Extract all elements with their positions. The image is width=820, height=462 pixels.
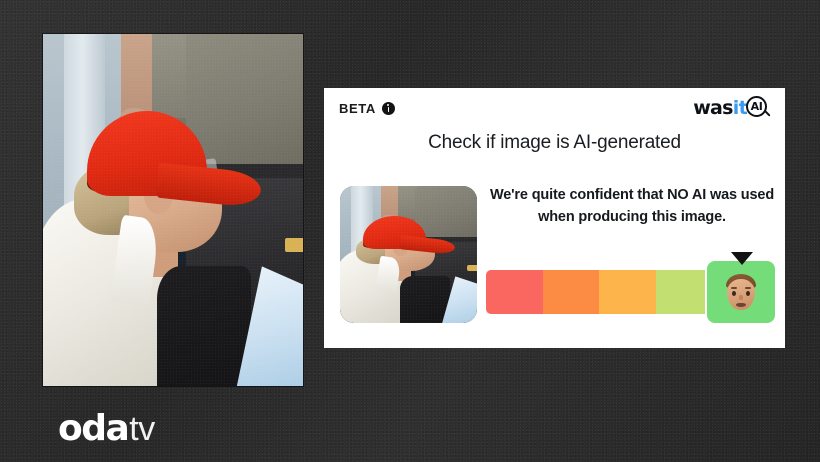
meter-segment-likely-ai <box>543 270 600 314</box>
confidence-meter <box>486 270 769 314</box>
face-emoji-eye-left <box>732 291 736 296</box>
verdict-line-1: We're quite confident that NO AI was use… <box>484 184 780 206</box>
verdict-line-2: when producing this image. <box>484 206 780 228</box>
main-photo <box>43 34 303 386</box>
watermark-light-text: tv <box>129 410 154 449</box>
face-emoji-eye-right <box>746 291 750 296</box>
face-emoji-brow-left <box>731 287 737 289</box>
meter-selected-tile <box>705 259 777 325</box>
magnifier-handle <box>763 109 770 116</box>
watermark-bold-text: oda <box>58 408 128 449</box>
meter-segment-uncertain <box>599 270 656 314</box>
uploaded-image-thumbnail[interactable] <box>340 186 477 323</box>
odatv-watermark: oda tv <box>58 408 155 449</box>
magnifier-icon: AI <box>746 96 771 121</box>
logo-text-ai: AI <box>746 96 767 117</box>
face-emoji-brow-right <box>745 287 751 289</box>
meter-segment-likely-human <box>656 270 713 314</box>
wasitai-logo[interactable]: was it AI <box>693 96 771 121</box>
ai-detector-card: BETA was it AI Check if image is AI-gene… <box>324 88 785 348</box>
screenshot-root: oda tv BETA was it AI Check if image is … <box>0 0 820 462</box>
photo-grain-overlay <box>43 34 303 386</box>
face-emoji-icon <box>726 274 756 310</box>
face-emoji-mouth <box>736 303 746 307</box>
page-title: Check if image is AI-generated <box>324 132 785 154</box>
info-icon[interactable] <box>382 102 395 115</box>
thumb-grain-overlay <box>340 186 477 323</box>
verdict-text: We're quite confident that NO AI was use… <box>484 184 780 228</box>
logo-text-it: it <box>733 97 747 119</box>
card-top-bar: BETA was it AI <box>324 88 785 128</box>
meter-segment-very-likely-ai <box>486 270 543 314</box>
down-triangle-icon <box>731 252 753 265</box>
beta-badge-group: BETA <box>339 101 395 116</box>
meter-result-marker <box>705 259 777 327</box>
face-emoji-nose <box>739 295 743 300</box>
beta-label: BETA <box>339 101 376 116</box>
logo-text-was: was <box>693 97 733 119</box>
